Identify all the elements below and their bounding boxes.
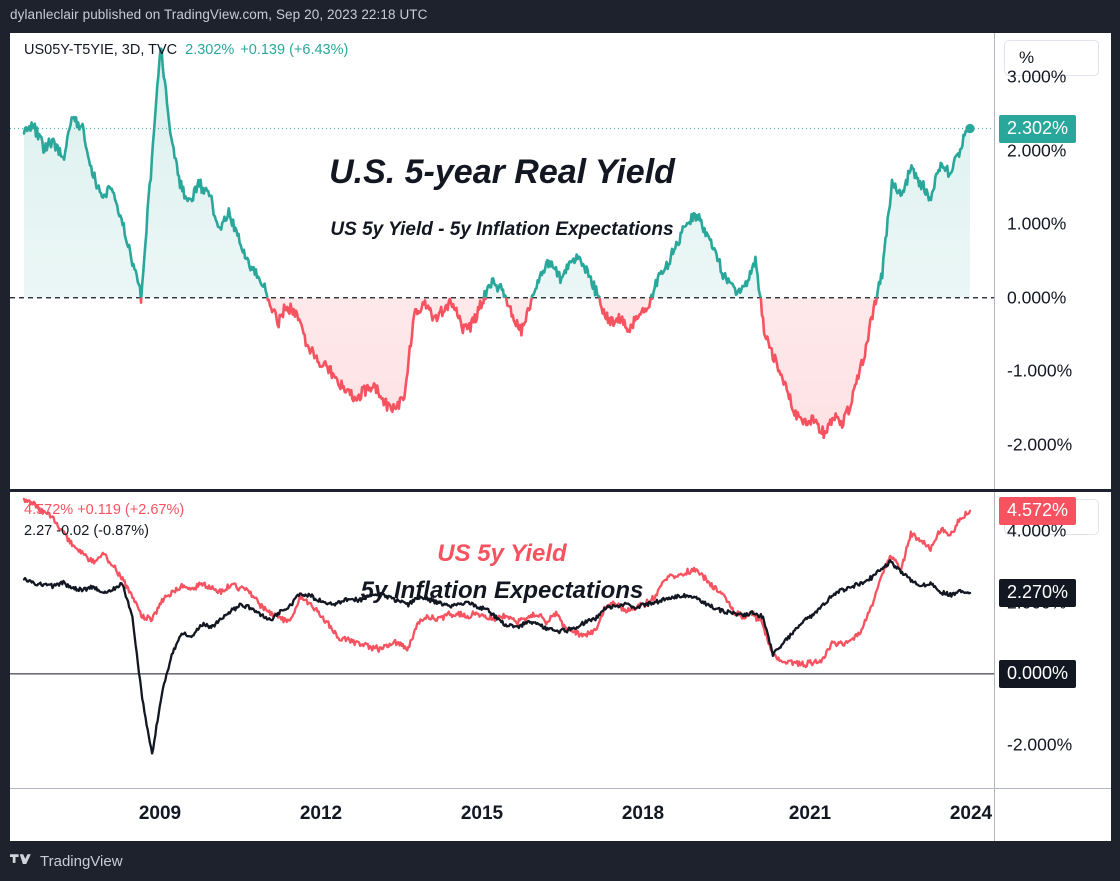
- y-tick-top-4: 0.000%: [1007, 287, 1066, 308]
- last-price-badge-yield: 4.572%: [999, 497, 1076, 525]
- x-tick-1: 2009: [139, 803, 181, 825]
- baseline-badge-zero: 0.000%: [999, 660, 1076, 688]
- percent-label-top: %: [1019, 48, 1034, 68]
- y-tick-top-5: -1.000%: [1007, 361, 1072, 382]
- footer-branding: TradingView: [10, 848, 123, 874]
- price-axis-top[interactable]: % 3.000% 2.000% 1.000% 0.000% -1.000% -2…: [994, 33, 1111, 489]
- y-tick-top-3: 1.000%: [1007, 214, 1066, 235]
- y-tick-bottom-4: -2.000%: [1007, 735, 1072, 756]
- last-price-badge-breakeven: 2.270%: [999, 579, 1076, 607]
- yield-breakeven-line-plot: [10, 492, 994, 788]
- y-tick-top-2: 2.000%: [1007, 140, 1066, 161]
- x-tick-2: 2012: [300, 803, 342, 825]
- axis-corner-cell: [994, 788, 1111, 841]
- attribution-text: dylanleclair published on TradingView.co…: [10, 7, 428, 29]
- last-price-badge-top: 2.302%: [999, 115, 1076, 143]
- pane-yield-vs-breakeven[interactable]: 4.572% +0.119 (+2.67%) 2.27 -0.02 (-0.87…: [10, 492, 994, 788]
- footer-brand-label: TradingView: [40, 853, 123, 870]
- price-axis-bottom[interactable]: % 4.000% 2.000% 0.000% -2.000% 4.572% 2.…: [994, 492, 1111, 788]
- x-axis[interactable]: 2009 2012 2015 2018 2021 2024: [10, 788, 994, 841]
- x-tick-4: 2018: [622, 803, 664, 825]
- real-yield-area-plot: [10, 33, 994, 489]
- chart-stage: US05Y-T5YIE, 3D, TVC2.302%+0.139 (+6.43%…: [10, 33, 1110, 840]
- tradingview-logo-icon: [10, 854, 32, 868]
- y-tick-top-6: -2.000%: [1007, 434, 1072, 455]
- x-tick-5: 2021: [789, 803, 831, 825]
- y-tick-top-1: 3.000%: [1007, 67, 1066, 88]
- pane-real-yield[interactable]: US05Y-T5YIE, 3D, TVC2.302%+0.139 (+6.43%…: [10, 33, 994, 489]
- tradingview-chart-screenshot: dylanleclair published on TradingView.co…: [0, 0, 1120, 881]
- x-tick-3: 2015: [461, 803, 503, 825]
- x-tick-6: 2024: [950, 803, 992, 825]
